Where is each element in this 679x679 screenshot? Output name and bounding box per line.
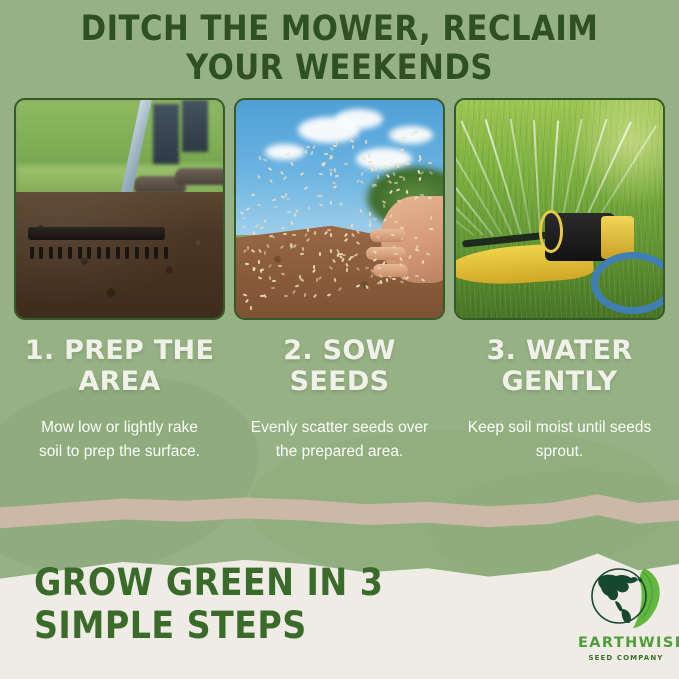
rake-tine <box>87 247 91 259</box>
rake-tine <box>125 247 129 259</box>
finger <box>373 264 407 277</box>
person-shoe <box>175 168 225 185</box>
step-description: Keep soil moist until seeds sprout. <box>454 416 665 464</box>
step-description: Evenly scatter seeds over the prepared a… <box>234 416 445 464</box>
water-jet <box>533 120 541 235</box>
step-photo-water-gently <box>454 98 665 320</box>
rake-tine <box>30 247 34 259</box>
step-title: 2. Sow Seeds <box>234 336 445 398</box>
rake-head <box>28 227 165 240</box>
poster-canvas: Ditch the Mower, Reclaim Your Weekends <box>0 0 679 679</box>
step-item: 1. Prep the Area Mow low or lightly rake… <box>14 336 225 464</box>
rake-tine <box>97 247 101 259</box>
step-item: 2. Sow Seeds Evenly scatter seeds over t… <box>234 336 445 464</box>
blue-hose <box>591 252 665 314</box>
person-leg <box>153 104 179 164</box>
photo-row <box>14 98 665 320</box>
rake-tine <box>68 247 72 259</box>
sprinkler-illustration <box>456 100 663 318</box>
rake-tine <box>78 247 82 259</box>
rake-tine <box>116 247 120 259</box>
logo-name: EARTHWISE <box>578 635 674 651</box>
rake-tine <box>154 247 158 259</box>
sowing-seeds-illustration <box>236 100 443 318</box>
rake-tine <box>164 247 168 259</box>
step-description: Mow low or lightly rake soil to prep the… <box>14 416 225 464</box>
sprinkler-clip <box>539 210 564 253</box>
step-item: 3. Water Gently Keep soil moist until se… <box>454 336 665 464</box>
steps-list: 1. Prep the Area Mow low or lightly rake… <box>14 336 665 464</box>
brand-logo: EARTHWISE SEED COMPANY <box>578 562 674 662</box>
main-headline: Ditch the Mower, Reclaim Your Weekends <box>41 10 639 88</box>
rake-tine <box>106 247 110 259</box>
cloud <box>265 144 305 160</box>
step-photo-prep-area <box>14 98 225 320</box>
person-leg <box>182 100 208 152</box>
footer-headline: Grow green in 3 simple steps <box>34 562 502 648</box>
logo-tagline: SEED COMPANY <box>578 654 674 662</box>
step-title: 3. Water Gently <box>454 336 665 398</box>
rake-tine <box>58 247 62 259</box>
globe-leaf-icon <box>578 562 674 634</box>
rake-tine <box>135 247 139 259</box>
step-title: 1. Prep the Area <box>14 336 225 398</box>
rake-soil-illustration <box>16 100 223 318</box>
rake-tine <box>49 247 53 259</box>
sowing-hand <box>381 196 445 283</box>
finger <box>366 247 406 261</box>
rake-tine <box>145 247 149 259</box>
finger <box>370 229 406 242</box>
cloud <box>335 109 383 129</box>
step-photo-sow-seeds <box>234 98 445 320</box>
rake-tine <box>39 247 43 259</box>
water-jet <box>509 119 531 236</box>
rake-tines <box>28 247 165 259</box>
